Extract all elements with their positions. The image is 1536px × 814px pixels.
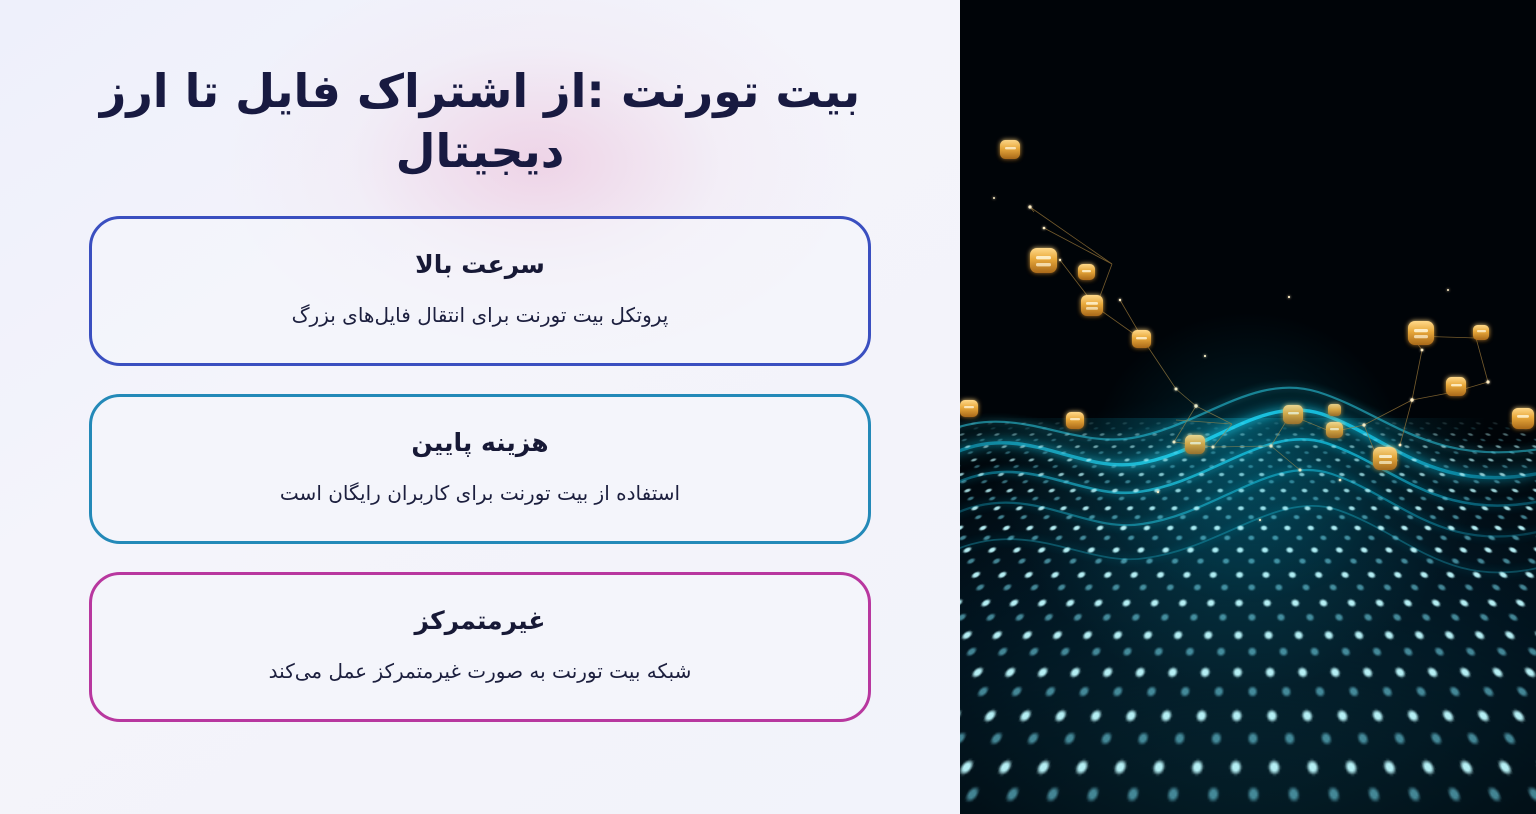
visual-center-glow	[960, 0, 1536, 814]
feature-card-description: پروتکل بیت تورنت برای انتقال فایل‌های بز…	[292, 302, 669, 329]
feature-card-description: استفاده از بیت تورنت برای کاربران رایگان…	[280, 480, 680, 507]
feature-card-decentralized[interactable]: غیرمتمرکز شبکه بیت تورنت به صورت غیرمتمر…	[89, 572, 871, 722]
feature-card-high-speed[interactable]: سرعت بالا پروتکل بیت تورنت برای انتقال ف…	[89, 216, 871, 366]
hero-visual-panel	[960, 0, 1536, 814]
feature-card-title: سرعت بالا	[415, 250, 545, 280]
feature-card-title: غیرمتمرکز	[415, 606, 546, 636]
feature-card-title: هزینه پایین	[411, 428, 548, 458]
feature-card-low-cost[interactable]: هزینه پایین استفاده از بیت تورنت برای کا…	[89, 394, 871, 544]
slide-root: بیت تورنت :از اشتراک فایل تا ارز دیجیتال…	[0, 0, 1536, 814]
content-panel: بیت تورنت :از اشتراک فایل تا ارز دیجیتال…	[0, 0, 960, 814]
feature-card-list: سرعت بالا پروتکل بیت تورنت برای انتقال ف…	[89, 216, 871, 722]
slide-title: بیت تورنت :از اشتراک فایل تا ارز دیجیتال	[85, 62, 875, 182]
feature-card-description: شبکه بیت تورنت به صورت غیرمتمرکز عمل می‌…	[269, 658, 692, 685]
